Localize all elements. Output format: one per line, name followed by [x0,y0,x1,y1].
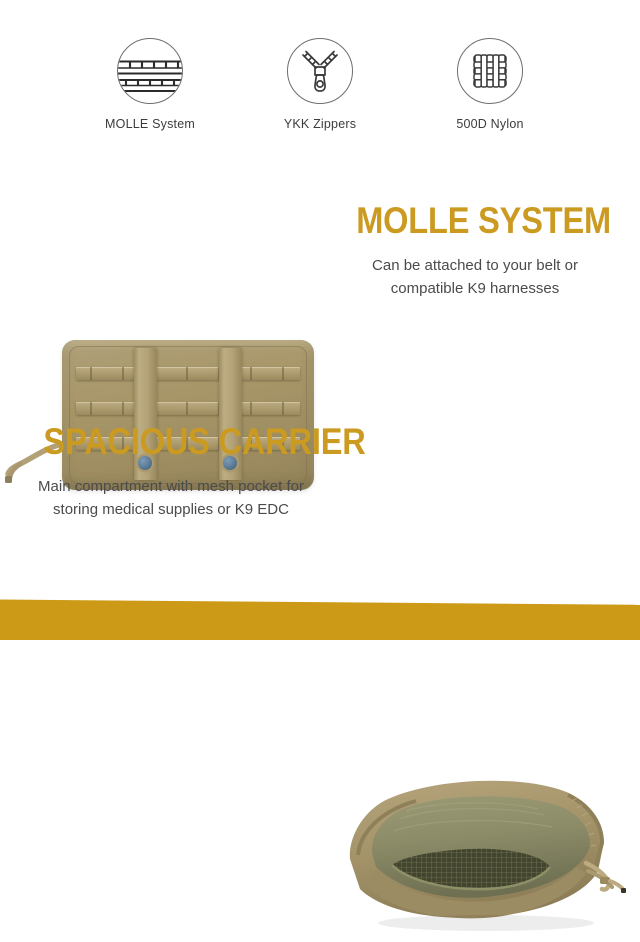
section-body: Can be attached to your belt or compatib… [340,254,610,301]
feature-label: YKK Zippers [284,117,356,131]
molle-webbing-icon [117,38,183,104]
spacious-text-block: SPACIOUS CARRIER Main compartment with m… [26,423,316,521]
section-heading: MOLLE SYSTEM [356,202,594,240]
body-line-2: compatible K9 harnesses [340,277,610,300]
body-line-1: Can be attached to your belt or [340,254,610,277]
section-heading: SPACIOUS CARRIER [43,423,298,461]
molle-text-block: MOLLE SYSTEM Can be attached to your bel… [340,202,610,300]
woven-nylon-icon [457,38,523,104]
section-molle-system: MOLLE SYSTEM Can be attached to your bel… [0,160,640,360]
bottom-accent-bar [0,596,640,640]
body-line-1: Main compartment with mesh pocket for [26,475,316,498]
section-body: Main compartment with mesh pocket for st… [26,475,316,522]
feature-label: 500D Nylon [456,117,523,131]
feature-item-500d-nylon: 500D Nylon [405,38,575,131]
feature-icon-strip: MOLLE System YKK Zippers [0,38,640,131]
zipper-icon [287,38,353,104]
feature-item-ykk-zippers: YKK Zippers [235,38,405,131]
body-line-2: storing medical supplies or K9 EDC [26,498,316,521]
product-image-pouch-open [336,767,626,937]
feature-item-molle-system: MOLLE System [65,38,235,131]
section-spacious-carrier: SPACIOUS CARRIER Main compartment with m… [0,375,640,575]
feature-label: MOLLE System [105,117,195,131]
